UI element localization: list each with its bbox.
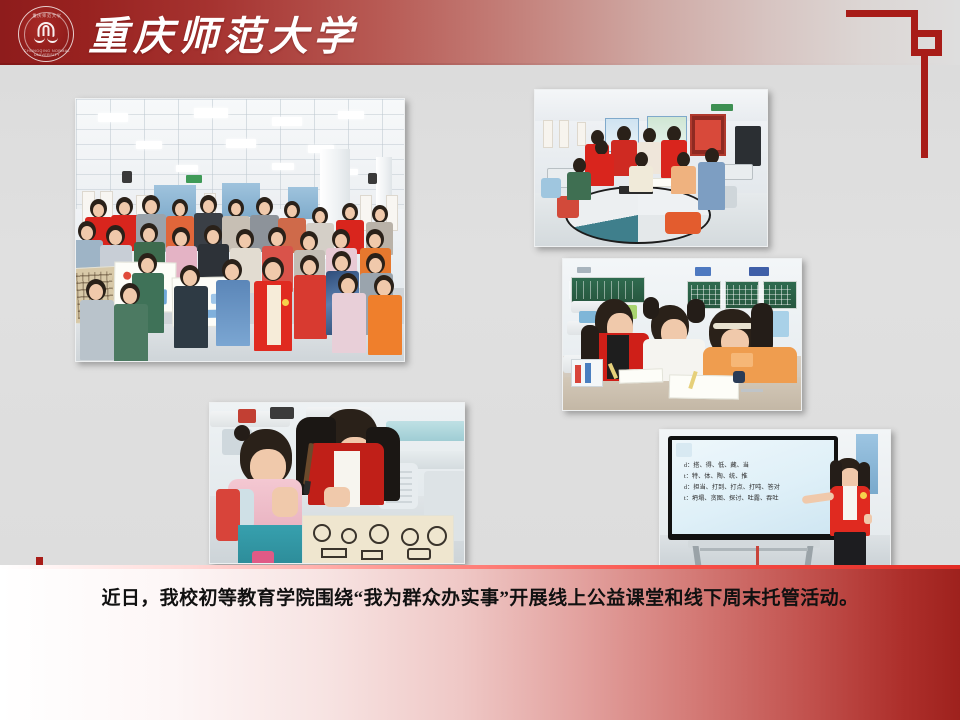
online-class-photo: d：搭、得、低、藏、当 t：特、体、陶、统、推 d：担当、打到、打点、打吨、答对…: [659, 429, 891, 566]
slide-canvas: 重庆师范大学 CHONGQING NORMAL UNIVERSITY 重庆师范大…: [0, 0, 960, 720]
calligraphy-photo: [209, 402, 465, 564]
seal-bottom-text: CHONGQING NORMAL UNIVERSITY: [19, 49, 75, 57]
seal-emblem-icon: [33, 18, 59, 44]
slide-header: 重庆师范大学 CHONGQING NORMAL UNIVERSITY 重庆师范大…: [0, 0, 960, 65]
screen-line-2: t：特、体、陶、统、推: [684, 471, 824, 482]
page-title: 重庆师范大学: [88, 6, 358, 60]
university-seal-icon: 重庆师范大学 CHONGQING NORMAL UNIVERSITY: [18, 6, 74, 62]
slide-caption: 近日，我校初等教育学院围绕“我为群众办实事”开展线上公益课堂和线下周末托管活动。: [0, 583, 960, 610]
screen-line-3: d：担当、打到、打点、打吨、答对: [684, 482, 824, 493]
group-photo: [75, 98, 405, 362]
screen-line-1: d：搭、得、低、藏、当: [684, 460, 824, 471]
corner-ornament-top-right-icon: [846, 10, 942, 158]
activity-room-photo: [534, 89, 768, 247]
tutoring-photo: [562, 258, 802, 411]
